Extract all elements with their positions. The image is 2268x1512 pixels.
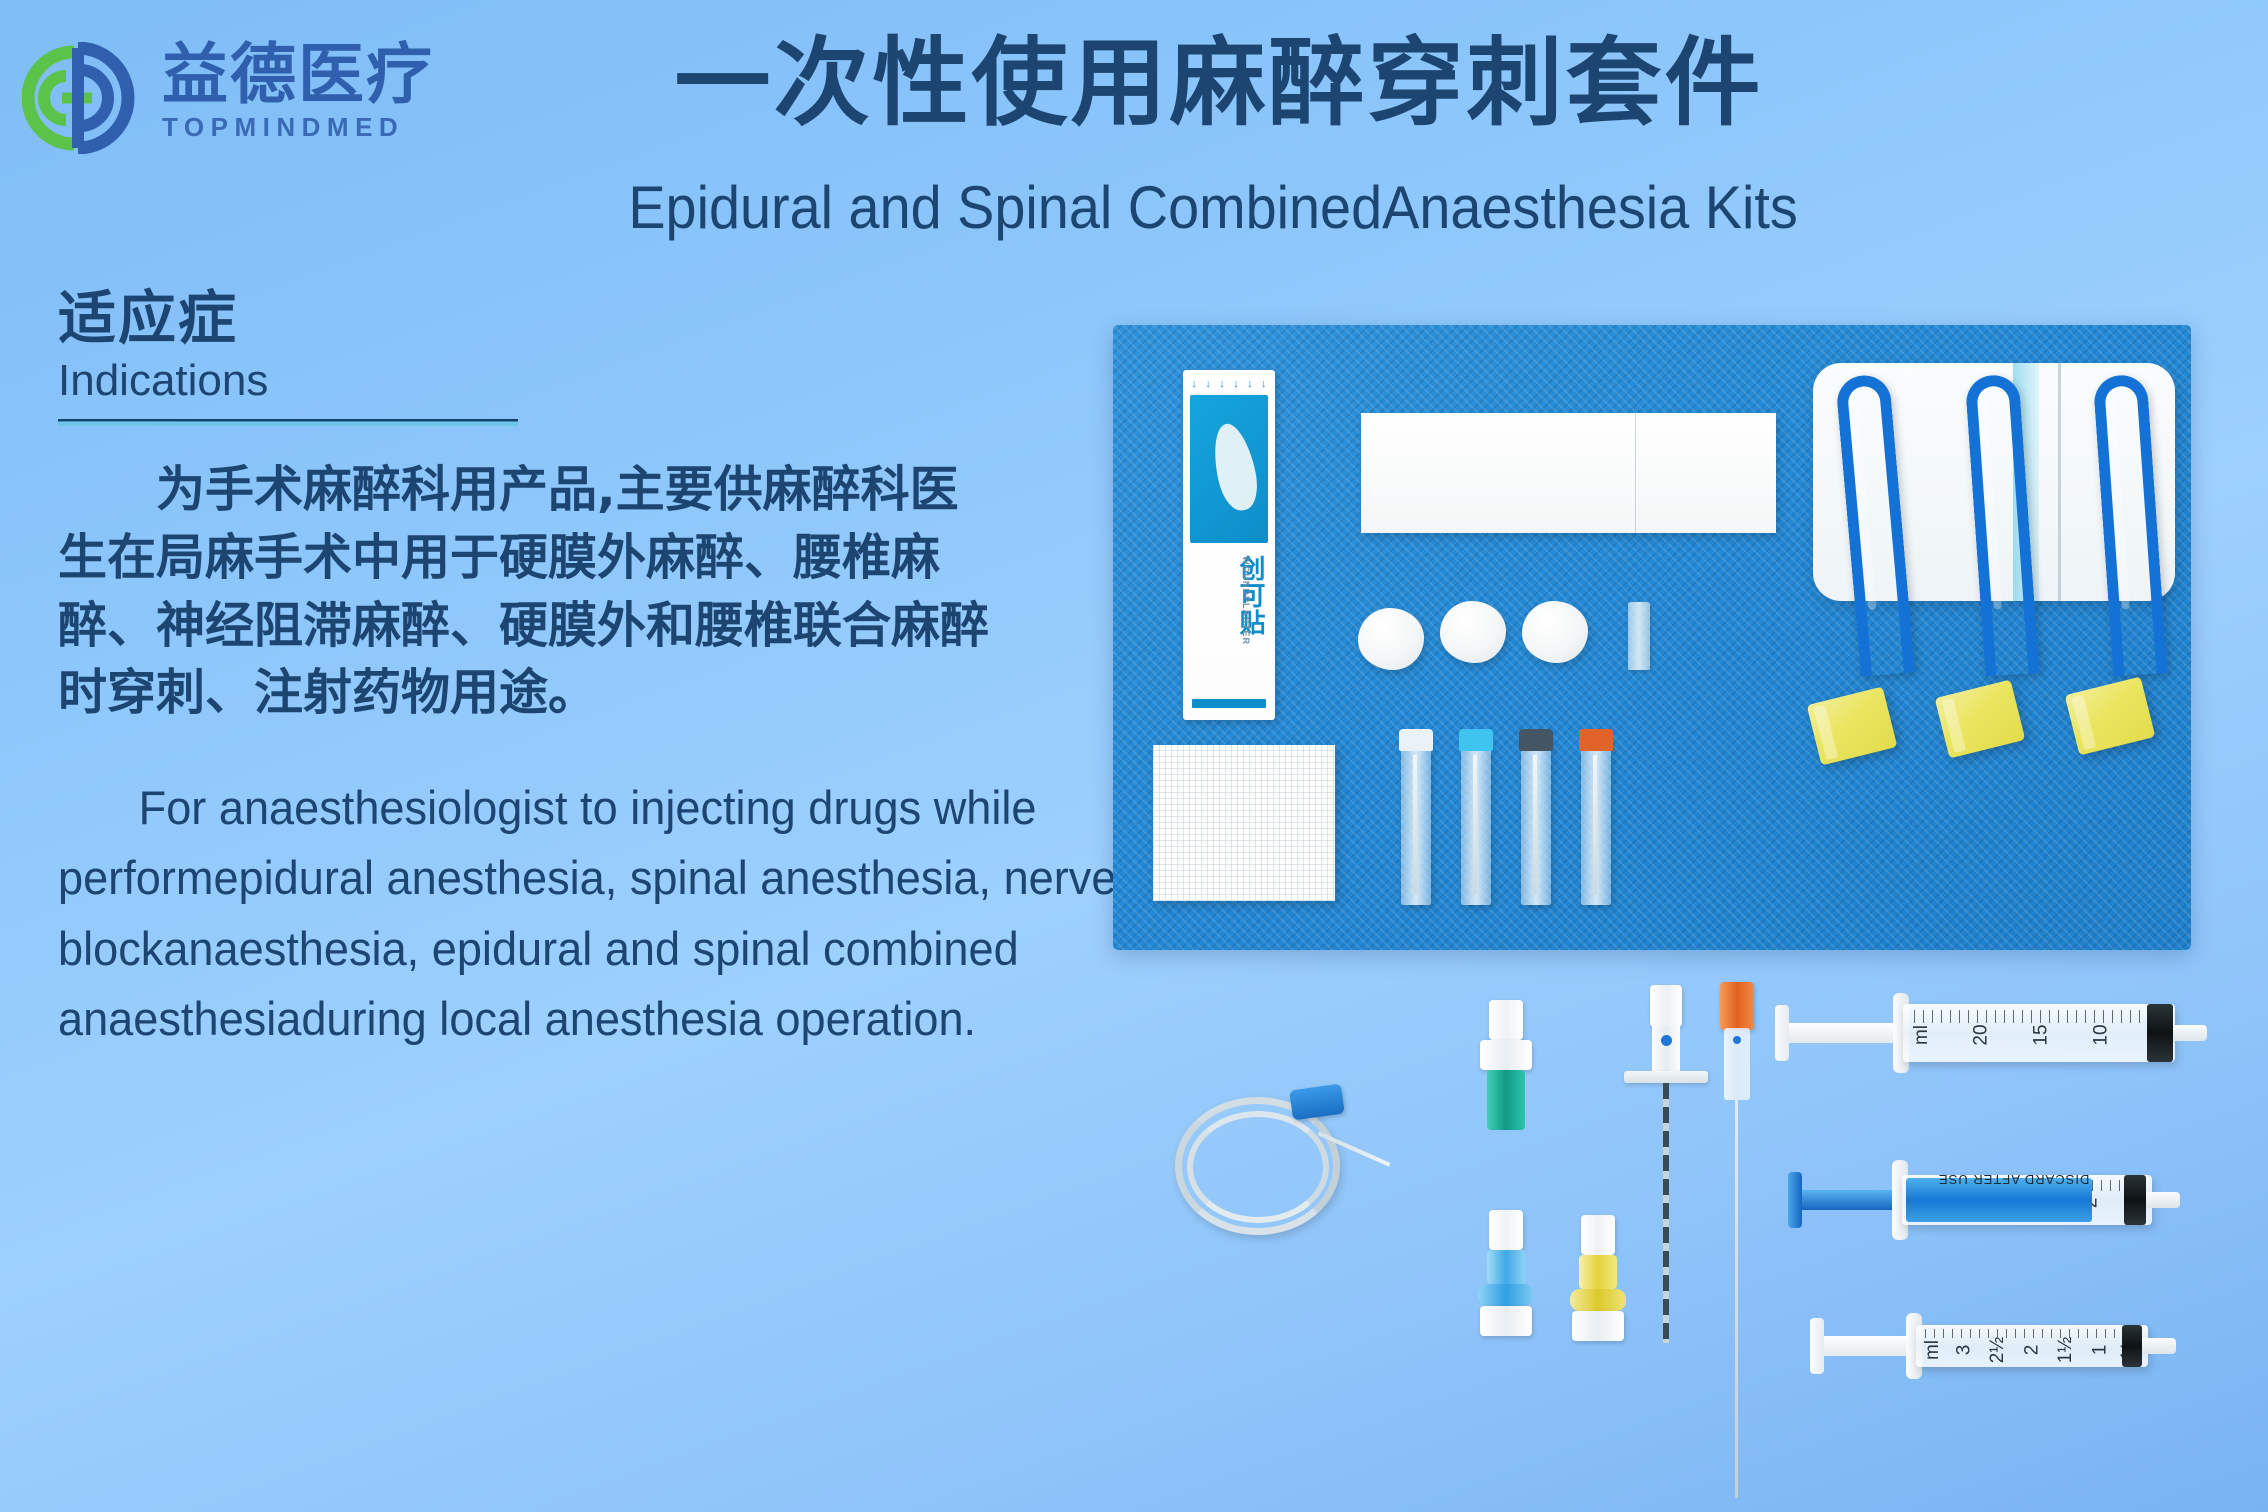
plunger-flange: [1810, 1318, 1824, 1374]
discard-warning-text: DISCARD AFTER USE: [1938, 1172, 2089, 1187]
graduation-labels: ml 3 2½ 2 1½ 1 ½: [1925, 1339, 2138, 1356]
tuohy-epidural-needle: [1636, 985, 1696, 1345]
page-title-en: Epidural and Spinal CombinedAnaesthesia …: [79, 178, 2188, 238]
graduation-label: 10: [2091, 1024, 2113, 1045]
vial-cap: [1579, 729, 1613, 751]
luer-tip: [2142, 1338, 2176, 1354]
luer-cap: [1489, 1000, 1523, 1040]
vial-cap: [1519, 729, 1553, 751]
plaster-bottom-bar: [1192, 699, 1266, 708]
vial-needle: [1593, 755, 1597, 895]
needle-indicator-dot: [1733, 1036, 1741, 1044]
vial-cap: [1399, 729, 1433, 751]
coiled-epidural-catheter: [1165, 1085, 1375, 1245]
folded-gauze-square: [1153, 745, 1335, 901]
luer-tip: [2146, 1192, 2180, 1208]
plaster-text-cn: 创可贴: [1189, 555, 1269, 680]
section-heading-en: Indications: [58, 357, 1138, 405]
graduation-label: 2: [2021, 1345, 2043, 1356]
graduation-ticks: [1925, 1329, 2138, 1338]
needle-cap: [1720, 982, 1754, 1030]
needle-cap: [1650, 985, 1682, 1027]
product-tray-photo: ↓↓↓↓↓↓ 创可贴 WOUNDPLASTER: [1113, 325, 2191, 950]
syringe-5ml: 6 5 4 3 2 1 DISCARD AFTER USE: [1788, 1150, 2218, 1250]
vial-needle: [1473, 755, 1477, 895]
cotton-ball: [1522, 601, 1588, 663]
plaster-illustration: [1190, 395, 1268, 543]
graduation-label: ml: [1922, 1340, 1944, 1360]
indications-body-en: For anaesthesiologist to injecting drugs…: [58, 773, 1143, 1055]
graduation-label: 2½: [1987, 1337, 2009, 1363]
ampoule-connector: [1628, 602, 1650, 670]
green-luer-connector: [1478, 1000, 1534, 1130]
needle-shaft: [1663, 1083, 1669, 1343]
graduation-label: ml: [1911, 1025, 1933, 1045]
section-divider: [58, 419, 518, 426]
page-title-cn: 一次性使用麻醉穿刺套件: [0, 30, 2268, 138]
wound-plaster-sachet: ↓↓↓↓↓↓ 创可贴 WOUNDPLASTER: [1183, 370, 1275, 720]
graduation-ticks: [1914, 1010, 2164, 1023]
needle-vial: [1461, 737, 1491, 905]
filter-body: [1579, 1255, 1617, 1289]
cotton-ball: [1440, 601, 1506, 663]
plunger-stopper: [2147, 1004, 2173, 1062]
catheter-connector: [1289, 1084, 1345, 1121]
syringe-3ml: ml 3 2½ 2 1½ 1 ½: [1810, 1300, 2210, 1392]
graduation-label: 1: [2089, 1345, 2111, 1356]
graduation-label: 1½: [2055, 1337, 2077, 1363]
cotton-ball: [1358, 608, 1424, 670]
needle-wings: [1624, 1071, 1708, 1083]
blue-filter-connector: [1478, 1210, 1534, 1336]
luer-cap: [1581, 1215, 1615, 1255]
plunger-stopper: [2122, 1325, 2142, 1367]
indications-section: 适应症 Indications 为手术麻醉科用产品,主要供麻醉科医生在局麻手术中…: [58, 288, 1138, 1055]
filter-wing: [1478, 1284, 1534, 1306]
plunger-stopper: [2124, 1175, 2146, 1225]
yellow-sponge: [1807, 686, 1898, 765]
needle-hub: [1652, 1025, 1680, 1073]
vial-needle: [1533, 755, 1537, 895]
yellow-filter-connector: [1570, 1215, 1626, 1341]
graduation-label: 3: [1953, 1345, 1975, 1356]
needle-vial: [1581, 737, 1611, 905]
spinal-needle: [1712, 982, 1760, 1502]
plunger-rod: [1802, 1190, 1902, 1210]
vial-needle: [1413, 755, 1417, 895]
graduation-label: 20: [1971, 1024, 1993, 1045]
luer-tip: [2173, 1025, 2207, 1041]
vial-cap: [1459, 729, 1493, 751]
section-heading-cn: 适应症: [58, 288, 1138, 349]
needle-indicator-dot: [1661, 1035, 1672, 1046]
luer-hub: [1480, 1040, 1532, 1070]
indications-body-cn: 为手术麻醉科用产品,主要供麻醉科医生在局麻手术中用于硬膜外麻醉、腰椎麻醉、神经阻…: [58, 456, 998, 726]
page-header: 益德医疗 TOPMINDMED 一次性使用麻醉穿刺套件 Epidural and…: [0, 0, 2268, 250]
filter-body: [1487, 1250, 1525, 1284]
gauze-strip: [1361, 413, 1776, 533]
syringe-20ml: ml 20 15 10 5: [1775, 980, 2230, 1086]
luer-cap: [1489, 1210, 1523, 1250]
syringe-barrel: ml 20 15 10 5: [1903, 1004, 2175, 1062]
plaster-arrows-icon: ↓↓↓↓↓↓: [1183, 376, 1275, 392]
yellow-sponge: [1935, 679, 2026, 758]
luer-hub: [1480, 1306, 1532, 1336]
plunger-flange: [1788, 1172, 1802, 1228]
yellow-sponge: [2065, 676, 2156, 755]
plunger-flange: [1775, 1005, 1789, 1061]
plaster-text-en: WOUNDPLASTER: [1241, 556, 1251, 671]
needle-shaft: [1735, 1098, 1738, 1498]
graduation-label: 15: [2031, 1024, 2053, 1045]
graduation-labels: ml 20 15 10 5: [1914, 1024, 2164, 1047]
syringe-barrel: ml 3 2½ 2 1½ 1 ½: [1916, 1325, 2148, 1367]
catheter-coil-inner: [1187, 1111, 1329, 1223]
plunger-rod: [1789, 1023, 1907, 1043]
luer-body: [1487, 1070, 1525, 1130]
plunger-rod: [1824, 1336, 1916, 1356]
needle-vial: [1401, 737, 1431, 905]
needle-vial: [1521, 737, 1551, 905]
luer-hub: [1572, 1311, 1624, 1341]
filter-wing: [1570, 1289, 1626, 1311]
